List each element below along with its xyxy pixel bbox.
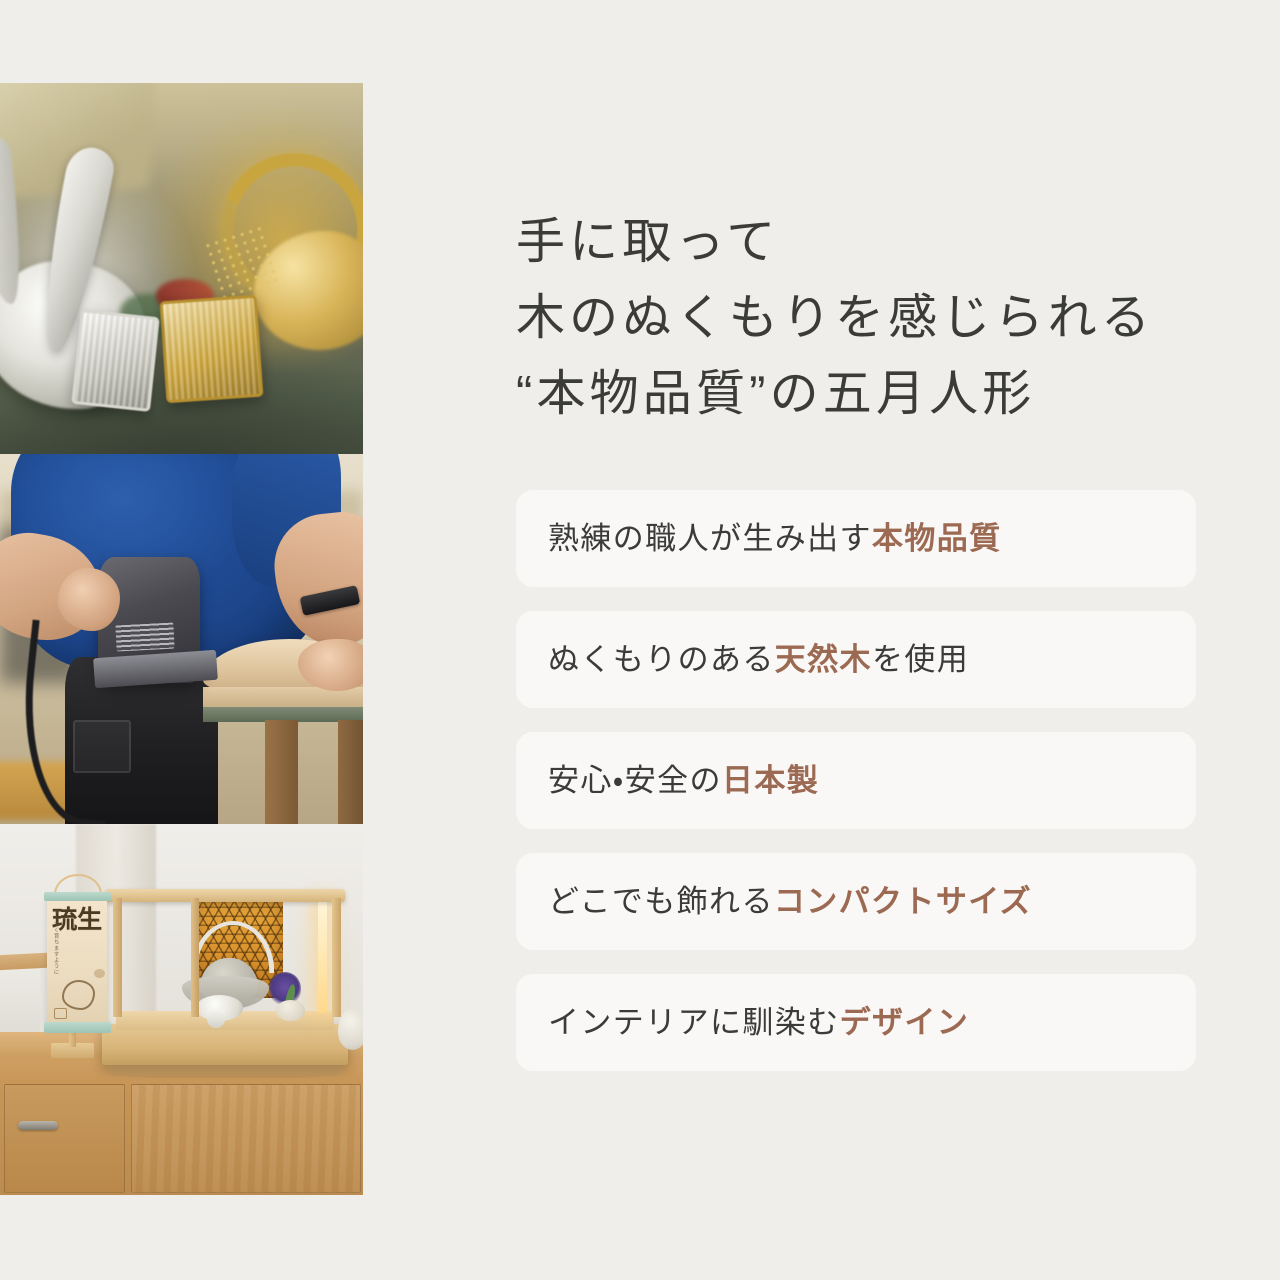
feature-text-plain: 安心・安全の (548, 763, 722, 798)
content-column: 手に取って 木のぬくもりを感じられる “本物品質”の五月人形 熟練の職人が生み出… (516, 0, 1216, 1280)
feature-text-plain: 熟練の職人が生み出す (548, 521, 872, 556)
rabbit-ornament (338, 1009, 363, 1050)
case-post-left (113, 898, 122, 1017)
feature-card[interactable]: 熟練の職人が生み出す本物品質 (516, 490, 1196, 587)
silver-ornament-box (71, 309, 159, 412)
feature-text-highlight: 本物品質 (872, 521, 1002, 556)
feature-text-tail: を使用 (872, 642, 969, 677)
name-banner-seal (54, 1008, 67, 1020)
kabuto-tassel (207, 1009, 225, 1028)
feature-text: どこでも飾れるコンパクトサイズ (548, 881, 1032, 923)
feature-text-highlight: デザイン (840, 1005, 970, 1040)
case-post-middle (191, 898, 199, 1017)
feature-text: 安心・安全の日本製 (548, 760, 819, 802)
feature-card[interactable]: ぬくもりのある天然木を使用 (516, 611, 1196, 708)
drawer-handle (18, 1121, 58, 1130)
display-case-base (102, 1024, 349, 1065)
photo-kabuto-display-case-interior: 琉生 すくすく育ちますように (0, 824, 363, 1195)
feature-text-plain: インテリアに馴染む (548, 1005, 840, 1040)
promo-page: 琉生 すくすく育ちますように 手に取って 木のぬくもりを感じられる “本物品質”… (0, 0, 1280, 1280)
sander-vent (116, 623, 175, 652)
feature-text: ぬくもりのある天然木を使用 (548, 639, 969, 681)
photo-craftsman-sanding-wood (0, 454, 363, 825)
dresser-drawer-right (131, 1084, 362, 1193)
page-headline: 手に取って 木のぬくもりを感じられる “本物品質”の五月人形 (516, 205, 1216, 433)
feature-text: 熟練の職人が生み出す本物品質 (548, 518, 1002, 560)
feature-text-highlight: コンパクトサイズ (774, 884, 1032, 919)
feature-text: インテリアに馴染むデザイン (548, 1002, 969, 1044)
feature-text-highlight: 天然木 (775, 642, 872, 677)
case-light-bar (318, 902, 327, 1013)
feature-card[interactable]: 安心・安全の日本製 (516, 732, 1196, 829)
gold-ornament-box (160, 295, 264, 404)
display-case-top (105, 889, 345, 902)
workbench-leg-left (265, 720, 298, 824)
case-post-right (332, 898, 341, 1017)
workbench-leg-right (338, 720, 363, 824)
window-sill (0, 952, 51, 970)
name-banner-top-rail (44, 892, 111, 902)
photo-column: 琉生 すくすく育ちますように (0, 83, 363, 1195)
feature-text-highlight: 日本製 (722, 763, 819, 798)
photo-armour-parts-workshop (0, 83, 363, 454)
flower-vase (276, 1000, 305, 1020)
feature-list: 熟練の職人が生み出す本物品質 ぬくもりのある天然木を使用 安心・安全の日本製 ど… (516, 490, 1196, 1071)
name-banner-bottom-rail (44, 1022, 111, 1032)
dresser-drawer-left (4, 1084, 126, 1193)
feature-text-plain: どこでも飾れる (548, 884, 774, 919)
feature-text-plain: ぬくもりのある (548, 642, 775, 677)
feature-card[interactable]: インテリアに馴染むデザイン (516, 974, 1196, 1071)
left-hand (58, 568, 120, 631)
name-banner-subtitle: すくすく育ちますように (53, 909, 59, 975)
feature-card[interactable]: どこでも飾れるコンパクトサイズ (516, 853, 1196, 950)
snake-illustration (62, 980, 95, 1010)
